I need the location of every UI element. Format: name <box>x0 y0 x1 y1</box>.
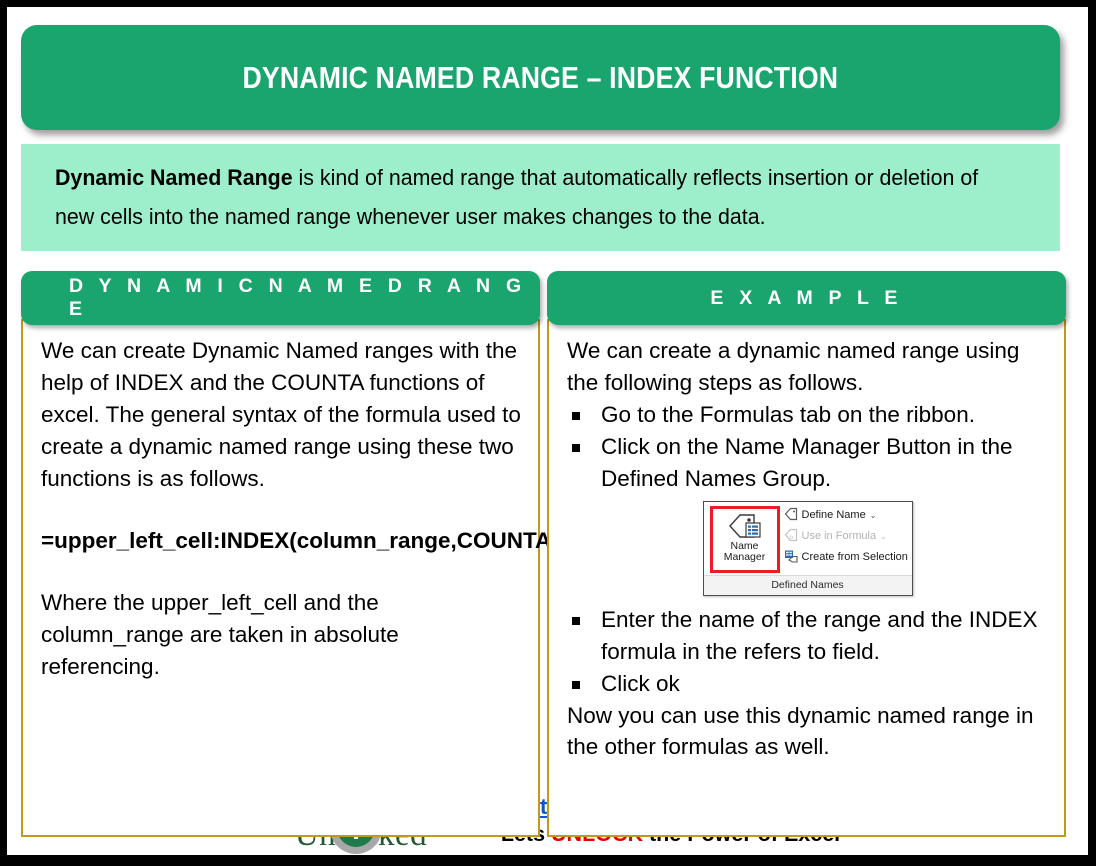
left-paragraph-1: We can create Dynamic Named ranges with … <box>41 335 522 495</box>
defined-names-commands: Define Name ⌄ fx Use in <box>780 502 912 575</box>
name-manager-label-line2: Manager <box>724 551 765 563</box>
ribbon-inner: Name Manager <box>704 502 912 575</box>
column-example: E X A M P L E We can create a dynamic na… <box>547 271 1066 837</box>
name-manager-label-line1: Name <box>730 540 758 552</box>
page-title: DYNAMIC NAMED RANGE – INDEX FUNCTION <box>243 60 839 96</box>
steps-list-bottom: Enter the name of the range and the INDE… <box>567 604 1048 700</box>
definition-lead: Dynamic Named Range <box>55 165 293 190</box>
right-column-header: E X A M P L E <box>547 271 1066 325</box>
name-manager-button[interactable]: Name Manager <box>710 506 780 573</box>
define-name-label: Define Name <box>802 509 866 521</box>
left-paragraph-2: Where the upper_left_cell and the column… <box>41 587 522 683</box>
slide-content: DYNAMIC NAMED RANGE – INDEX FUNCTION Dyn… <box>7 7 1088 855</box>
list-item: Go to the Formulas tab on the ribbon. <box>567 399 1048 431</box>
definition-box: Dynamic Named Range is kind of named ran… <box>21 144 1060 251</box>
title-banner: DYNAMIC NAMED RANGE – INDEX FUNCTION <box>21 25 1060 130</box>
svg-text:fx: fx <box>789 534 794 541</box>
defined-names-group-label: Defined Names <box>704 575 912 595</box>
excel-ribbon-screenshot: Name Manager <box>703 501 913 596</box>
name-manager-label: Name Manager <box>724 541 765 565</box>
example-closing: Now you can use this dynamic named range… <box>567 700 1048 764</box>
formula-syntax: =upper_left_cell:INDEX(column_range,COUN… <box>41 525 522 557</box>
steps-list-top: Go to the Formulas tab on the ribbon. Cl… <box>567 399 1048 495</box>
example-intro: We can create a dynamic named range usin… <box>567 335 1048 399</box>
spacer <box>41 557 522 587</box>
list-item: Click ok <box>567 668 1048 700</box>
create-from-selection-command[interactable]: Create from Selection <box>784 549 912 566</box>
create-from-selection-icon <box>784 549 798 566</box>
tag-icon <box>784 507 798 524</box>
formula-tag-icon: fx <box>784 528 798 545</box>
create-from-selection-label: Create from Selection <box>802 551 908 563</box>
left-column-header-label: D Y N A M I C N A M E D R A N G E <box>69 275 540 321</box>
use-in-formula-label: Use in Formula <box>802 530 877 542</box>
column-dynamic-named-range: D Y N A M I C N A M E D R A N G E We can… <box>21 271 540 837</box>
list-item: Click on the Name Manager Button in the … <box>567 431 1048 495</box>
left-column-body: We can create Dynamic Named ranges with … <box>21 319 540 837</box>
right-column-body: We can create a dynamic named range usin… <box>547 319 1066 837</box>
name-manager-icon <box>727 512 763 540</box>
chevron-down-icon[interactable]: ⌄ <box>870 511 877 520</box>
definition-text: Dynamic Named Range is kind of named ran… <box>55 159 985 236</box>
list-item: Enter the name of the range and the INDE… <box>567 604 1048 668</box>
define-name-command[interactable]: Define Name ⌄ <box>784 507 912 524</box>
slide-canvas: DYNAMIC NAMED RANGE – INDEX FUNCTION Dyn… <box>0 0 1096 866</box>
spacer <box>41 495 522 525</box>
right-column-header-label: E X A M P L E <box>710 287 902 310</box>
left-column-header: D Y N A M I C N A M E D R A N G E <box>21 271 540 325</box>
chevron-down-icon: ⌄ <box>880 532 887 541</box>
use-in-formula-command: fx Use in Formula ⌄ <box>784 528 912 545</box>
